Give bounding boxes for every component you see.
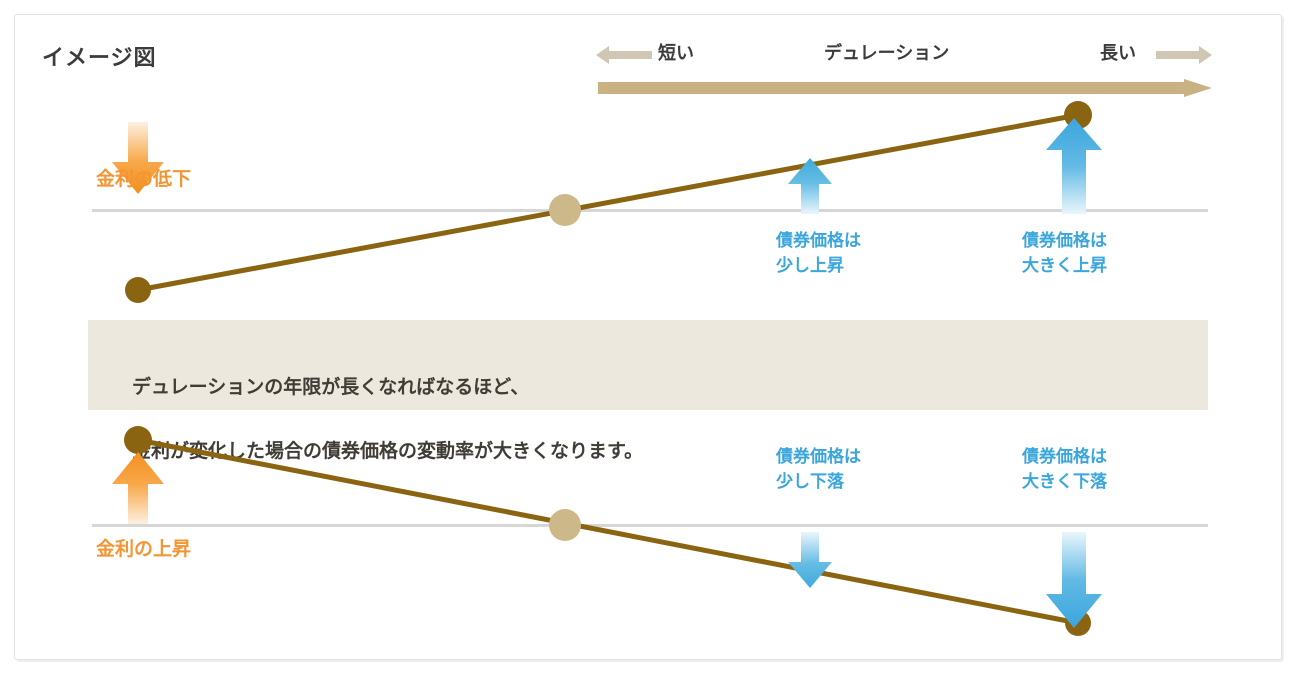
bond-price-large-rise-line2: 大きく上昇 [1022,253,1107,278]
arrow-right-icon [1156,46,1212,64]
arrow-up-icon-large [1046,118,1102,214]
bond-price-small-rise-line1: 債券価格は [776,228,861,253]
bond-price-small-rise-label: 債券価格は 少し上昇 [776,228,861,278]
pivot-dot [549,194,581,226]
bond-price-large-fall-line2: 大きく下落 [1022,469,1107,494]
duration-short-label: 短い [658,40,694,66]
page-title: イメージ図 [42,40,157,72]
rate-rise-label: 金利の上昇 [96,538,191,562]
arrow-down-icon-small [788,532,832,588]
duration-long-label: 長い [1100,40,1136,66]
bond-price-large-rise-line1: 債券価格は [1022,228,1107,253]
bond-price-small-fall-line2: 少し下落 [776,469,861,494]
duration-axis-header: 短い デュレーション 長い [596,40,1212,70]
bond-price-large-fall-line1: 債券価格は [1022,444,1107,469]
bond-price-large-rise-label: 債券価格は 大きく上昇 [1022,228,1107,278]
bond-price-small-fall-line1: 債券価格は [776,444,861,469]
bond-price-small-fall-label: 債券価格は 少し下落 [776,444,861,494]
figure-root: イメージ図 短い デュレーション 長い [0,0,1300,680]
duration-long-right-arrow-icon [598,79,1212,97]
bond-price-small-rise-line2: 少し上昇 [776,253,861,278]
arrow-up-icon [112,452,164,524]
arrow-left-icon [596,46,652,64]
endpoint-dot-left [124,426,152,454]
duration-title-label: デュレーション [824,40,949,66]
note-box: デュレーションの年限が長くなればなるほど、 金利が変化した場合の債券価格の変動率… [88,320,1208,410]
rate-decline-label: 金利の低下 [96,168,191,192]
arrow-down-icon-large [1046,532,1102,628]
note-line-1: デュレーションの年限が長くなればなるほど、 [132,372,643,404]
bond-price-large-fall-label: 債券価格は 大きく下落 [1022,444,1107,494]
pivot-dot [549,509,581,541]
endpoint-dot-left [125,277,151,303]
arrow-up-icon-small [788,158,832,214]
